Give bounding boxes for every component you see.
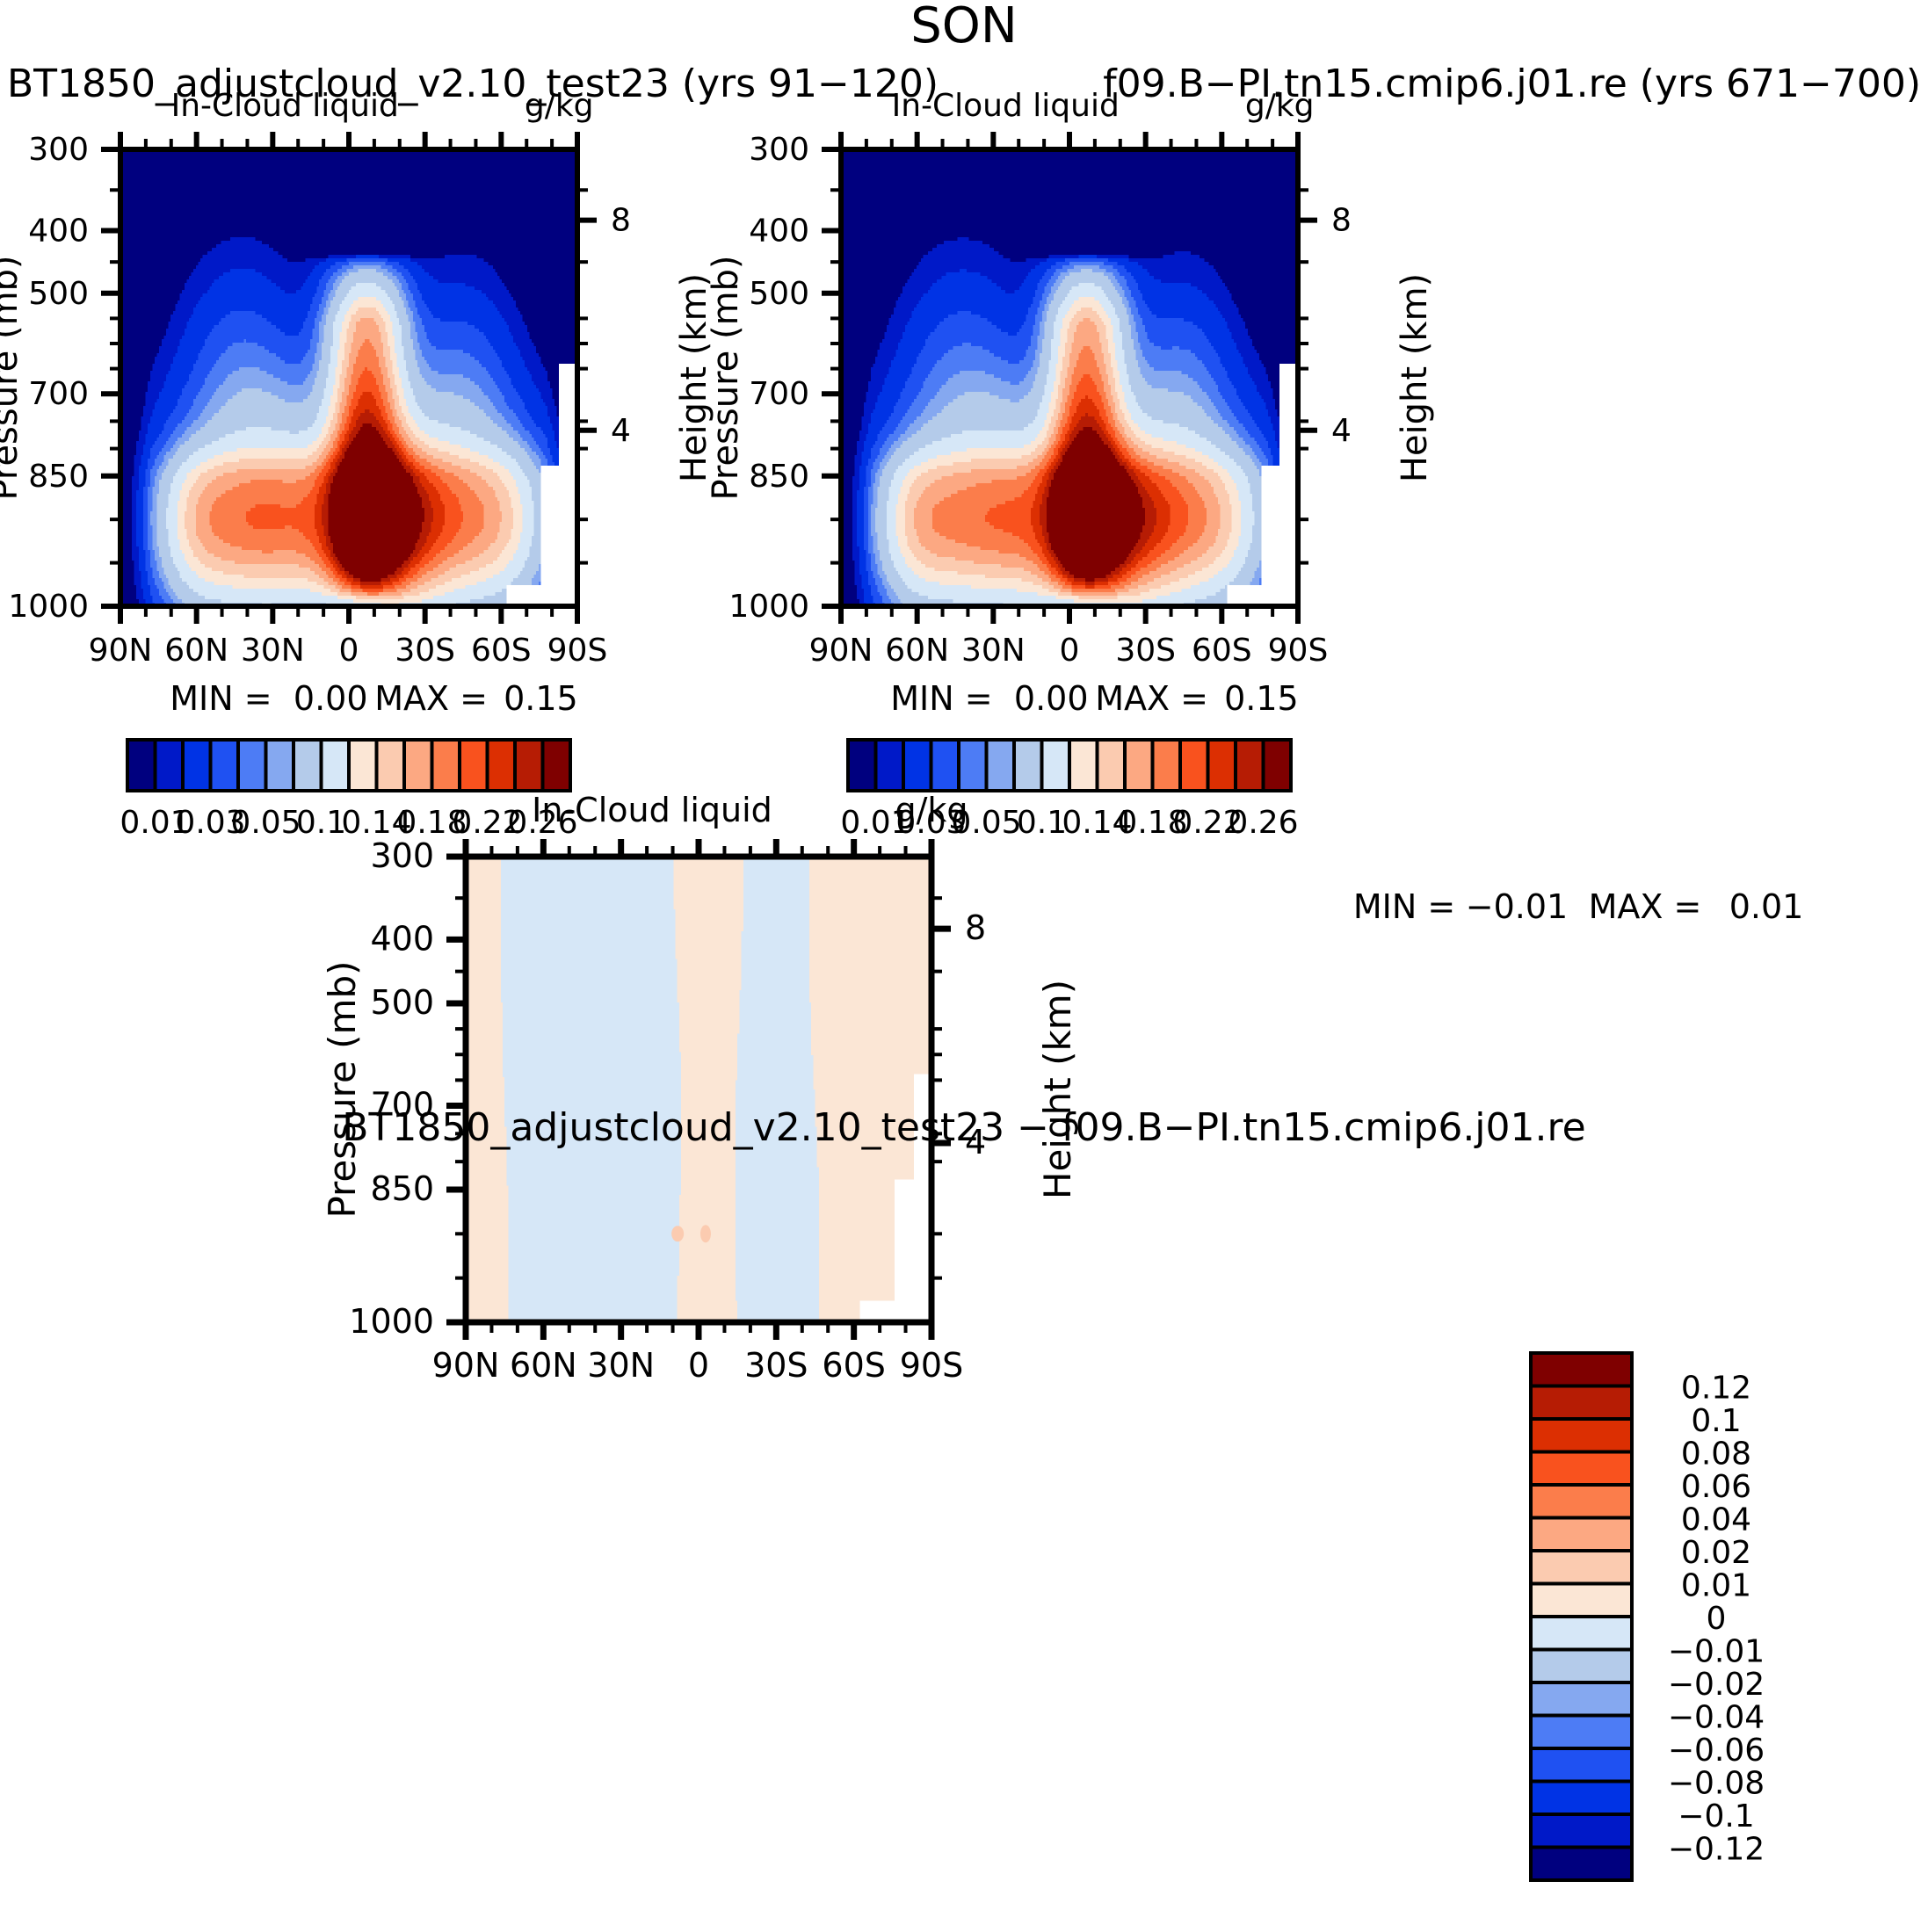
lat-tick-label: 0 <box>339 633 359 669</box>
height-tick-label: 4 <box>611 413 631 449</box>
max-value: 0.15 <box>504 679 578 718</box>
pressure-tick-label: 300 <box>28 132 89 168</box>
lat-tick-label: 30S <box>395 633 455 669</box>
min-value: 0.00 <box>294 679 368 718</box>
panel-left: 30040050070085010008490N60N30N030S60S90S… <box>0 88 714 718</box>
height-tick-label: 8 <box>611 203 631 239</box>
pressure-tick-label: 700 <box>28 376 89 412</box>
lat-tick-label: 60S <box>471 633 532 669</box>
pressure-tick-label: 400 <box>28 213 89 250</box>
lat-tick-label: 90N <box>89 633 153 669</box>
figure-root: 30040050070085010008490N60N30N030S60S90S… <box>0 0 1928 1932</box>
lat-tick-label: 90S <box>547 633 608 669</box>
min-label: MIN = <box>170 679 272 718</box>
lat-tick-label: 30N <box>241 633 305 669</box>
pressure-tick-label: 850 <box>28 459 89 495</box>
pressure-tick-label: 1000 <box>8 589 89 625</box>
pressure-axis-title: Pressure (mb) <box>0 255 25 500</box>
max-label: MAX = <box>374 679 488 718</box>
lat-tick-label: 60N <box>164 633 228 669</box>
pressure-tick-label: 500 <box>28 276 89 312</box>
panel-right: 30040050070085010008490N60N30N030S60S90S… <box>706 88 1435 718</box>
plot-canvas: 30040050070085010008490N60N30N030S60S90S… <box>0 0 1928 1932</box>
